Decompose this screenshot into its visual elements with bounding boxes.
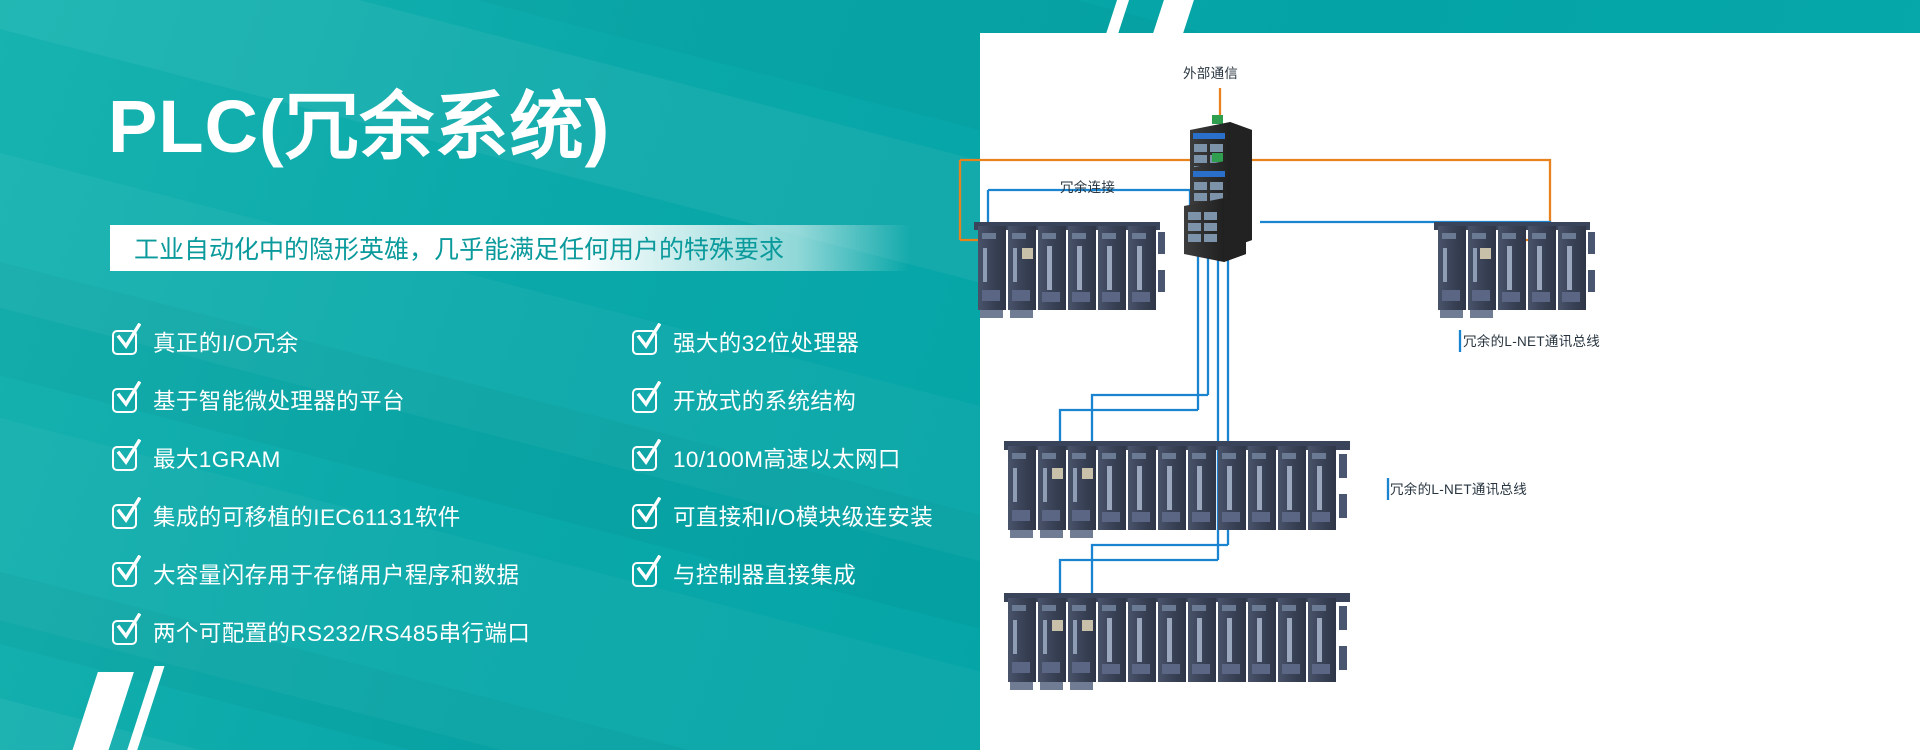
checkbox-checked-icon	[632, 504, 657, 529]
feature-label: 强大的32位处理器	[673, 326, 859, 358]
diagram-label-bus-upper: 冗余的L-NET通讯总线	[1463, 330, 1600, 350]
feature-list-left: 真正的I/O冗余 基于智能微处理器的平台 最大1GRAM 集成的可移植的IEC6…	[112, 325, 632, 673]
checkbox-checked-icon	[632, 446, 657, 471]
checkbox-checked-icon	[632, 330, 657, 355]
feature-label: 开放式的系统结构	[673, 384, 856, 416]
checkbox-checked-icon	[112, 504, 137, 529]
feature-label: 真正的I/O冗余	[153, 326, 299, 358]
plc-rack-middle	[1004, 441, 1350, 538]
list-item: 集成的可移植的IEC61131软件	[112, 499, 632, 533]
checkbox-checked-icon	[632, 388, 657, 413]
page-title: PLC(冗余系统)	[108, 88, 610, 166]
feature-label: 与控制器直接集成	[673, 558, 856, 590]
list-item: 两个可配置的RS232/RS485串行端口	[112, 615, 632, 649]
plc-rack-bottom	[1004, 593, 1350, 690]
diagram-label-external-comm: 外部通信	[1183, 62, 1238, 82]
feature-label: 两个可配置的RS232/RS485串行端口	[153, 616, 530, 648]
checkbox-checked-icon	[112, 446, 137, 471]
feature-label: 基于智能微处理器的平台	[153, 384, 405, 416]
checkbox-checked-icon	[112, 330, 137, 355]
plc-redundancy-diagram: 外部通信 冗余连接 冗余的L-NET通讯总线 冗余的L-NET通讯总线	[860, 0, 1920, 750]
plc-rack-upper-right	[1434, 222, 1595, 318]
list-item: 大容量闪存用于存储用户程序和数据	[112, 557, 632, 591]
list-item: 真正的I/O冗余	[112, 325, 632, 359]
subtitle-text: 工业自动化中的隐形英雄，几乎能满足任何用户的特殊要求	[110, 230, 784, 266]
plc-rack-upper-left	[974, 222, 1165, 318]
feature-label: 大容量闪存用于存储用户程序和数据	[153, 558, 519, 590]
checkbox-checked-icon	[112, 562, 137, 587]
banner-background: PLC(冗余系统) 工业自动化中的隐形英雄，几乎能满足任何用户的特殊要求 真正的…	[0, 0, 1920, 750]
checkbox-checked-icon	[112, 388, 137, 413]
feature-label: 最大1GRAM	[153, 442, 281, 474]
feature-label: 集成的可移植的IEC61131软件	[153, 500, 461, 532]
network-switch	[1184, 198, 1246, 262]
checkbox-checked-icon	[632, 562, 657, 587]
subtitle-banner: 工业自动化中的隐形英雄，几乎能满足任何用户的特殊要求	[110, 225, 910, 271]
list-item: 最大1GRAM	[112, 441, 632, 475]
diagram-label-bus-lower: 冗余的L-NET通讯总线	[1390, 478, 1527, 498]
external-comm-links	[960, 88, 1550, 240]
checkbox-checked-icon	[112, 620, 137, 645]
list-item: 基于智能微处理器的平台	[112, 383, 632, 417]
diagram-label-redundant-link: 冗余连接	[1060, 176, 1115, 196]
